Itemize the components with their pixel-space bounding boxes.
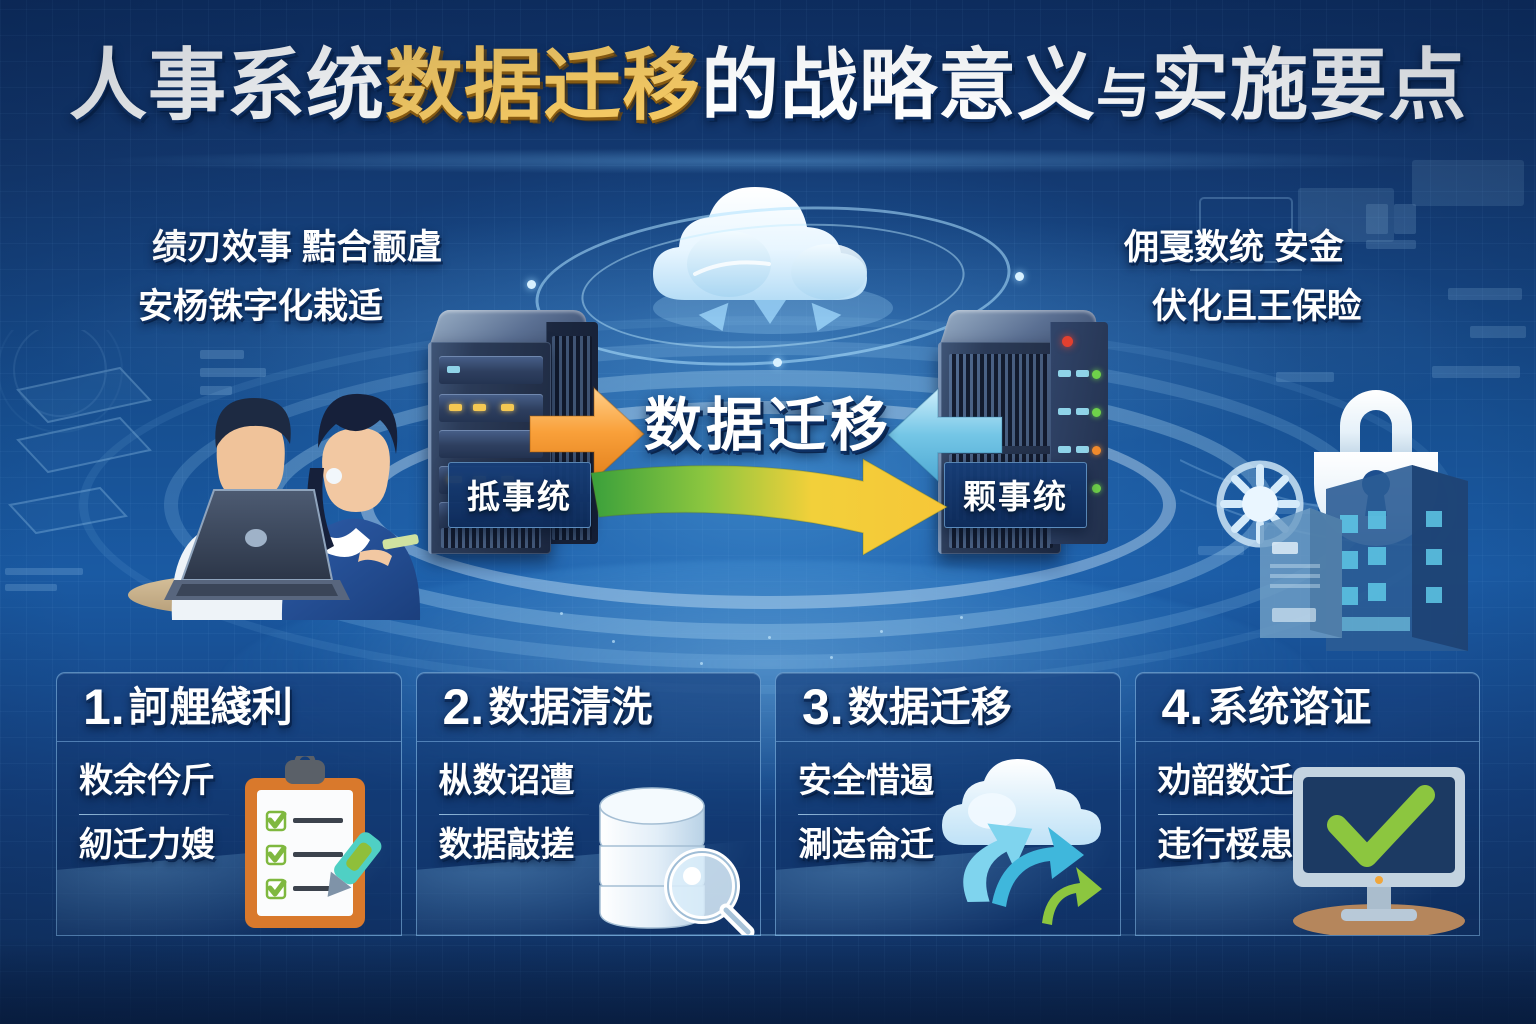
business-people-illustration — [96, 352, 426, 620]
clipboard-checklist-icon — [223, 756, 393, 936]
caption-left-line2: 安杨铢字化栽适 — [138, 278, 383, 329]
step-card-4-title: 系统谘证 — [1207, 687, 1371, 728]
step-card-2-line1: 枞数诏遭 — [439, 764, 595, 800]
step-card-3[interactable]: 3. 数据迁移 安全惜遏 涮迲侖迁 — [775, 672, 1121, 936]
arrow-right-gradient-icon — [585, 455, 955, 565]
step-card-1-divider — [79, 814, 229, 815]
server-tower-icon — [1252, 498, 1348, 644]
step-card-2-header: 2. 数据清洗 — [417, 673, 761, 742]
caption-right-line2: 伏化且王保睑 — [1152, 278, 1362, 329]
step-card-2-line2: 数据敲搓 — [439, 828, 595, 864]
step-card-1-title: 訶艃綫利 — [129, 687, 293, 728]
title-small: 与 — [1096, 64, 1151, 124]
step-card-1-number: 1. — [83, 682, 125, 732]
step-card-2-title: 数据清洗 — [488, 687, 652, 728]
steps-card-row: 1. 訶艃綫利 敉余仱斤 紉迁力嫂 — [56, 672, 1480, 936]
step-card-3-title: 数据迁移 — [848, 687, 1012, 728]
title-part3: 实施要点 — [1151, 41, 1467, 129]
step-card-1-header: 1. 訶艃綫利 — [57, 673, 401, 742]
step-card-3-header: 3. 数据迁移 — [776, 673, 1120, 742]
download-arrow-1 — [754, 300, 786, 324]
database-magnifier-icon — [576, 758, 756, 936]
step-card-2-divider — [439, 814, 589, 815]
caption-left-line1: 绩刃效事 黠合颥虘 — [152, 219, 442, 270]
step-card-4-number: 4. — [1162, 682, 1204, 732]
step-card-3-number: 3. — [802, 682, 844, 732]
title-part2: 的战略意义 — [701, 41, 1096, 129]
caption-right-line1: 佣戛数统 安金 — [1124, 219, 1344, 270]
title-highlight: 数据迁移 — [385, 41, 701, 129]
step-card-1[interactable]: 1. 訶艃綫利 敉余仱斤 紉迁力嫂 — [56, 672, 402, 936]
cloud-migration-arrows-icon — [930, 753, 1120, 936]
step-card-1-line2: 紉迁力嫂 — [79, 828, 235, 864]
step-card-1-line1: 敉余仱斤 — [79, 764, 235, 800]
page-title: 人事系统数据迁移的战略意义与实施要点 — [0, 46, 1536, 124]
infographic-poster: 人事系统数据迁移的战略意义与实施要点 绩刃效事 黠合颥虘 安杨铢字化栽适 佣戛数… — [0, 0, 1536, 1024]
step-card-2[interactable]: 2. 数据清洗 枞数诏遭 数据敲搓 — [416, 672, 762, 936]
title-part1: 人事系统 — [69, 41, 385, 129]
step-card-3-divider — [798, 814, 948, 815]
step-card-4-header: 4. 系统谘证 — [1136, 673, 1480, 742]
step-card-4[interactable]: 4. 系统谘证 劝韶数迁 违行桵患 — [1135, 672, 1481, 936]
monitor-check-icon — [1279, 753, 1479, 936]
step-card-2-number: 2. — [443, 682, 485, 732]
footer-glow — [0, 938, 1536, 1024]
